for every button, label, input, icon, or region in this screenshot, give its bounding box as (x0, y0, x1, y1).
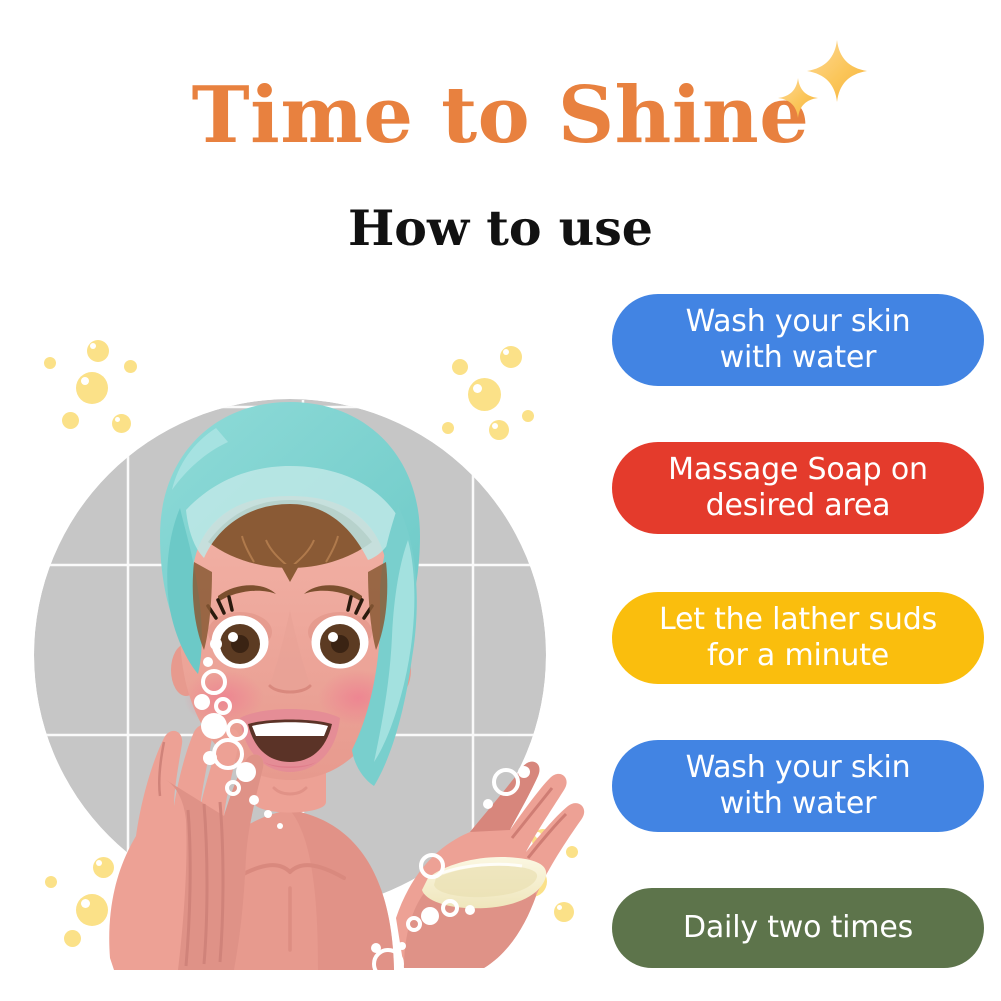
step-label: Wash your skin with water (686, 750, 911, 822)
page-subtitle: How to use (0, 200, 1001, 256)
sparkle-stars-icon (765, 34, 875, 144)
step-pill-massage-soap[interactable]: Massage Soap on desired area (612, 442, 984, 534)
step-label: Wash your skin with water (686, 304, 911, 376)
how-to-use-steps: Wash your skin with water Massage Soap o… (612, 294, 984, 954)
step-pill-lather-suds[interactable]: Let the lather suds for a minute (612, 592, 984, 684)
page-title: Time to Shine (192, 74, 810, 158)
step-label: Daily two times (683, 910, 913, 946)
step-label: Let the lather suds for a minute (659, 602, 937, 674)
step-label: Massage Soap on desired area (668, 452, 928, 524)
step-pill-daily-two-times[interactable]: Daily two times (612, 888, 984, 968)
poster-canvas: Time to Shine How to use (0, 0, 1001, 1001)
step-pill-wash-skin-1[interactable]: Wash your skin with water (612, 294, 984, 386)
woman-washing-face-illustration (18, 310, 618, 970)
step-pill-wash-skin-2[interactable]: Wash your skin with water (612, 740, 984, 832)
